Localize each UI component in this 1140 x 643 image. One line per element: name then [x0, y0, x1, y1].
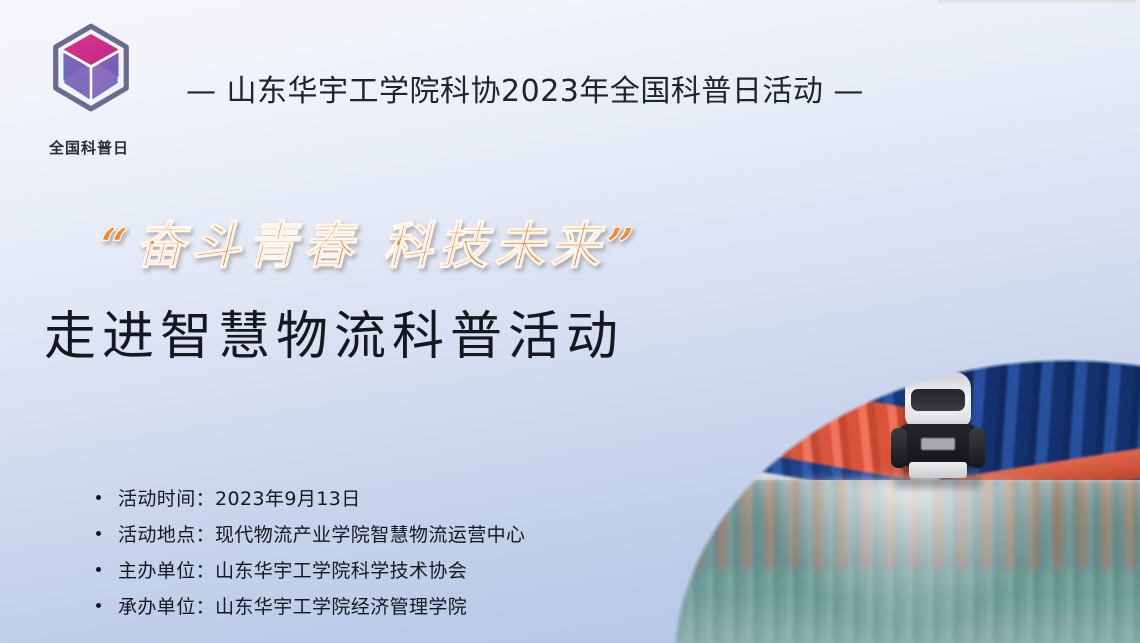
calligraphy-slogan: “奋斗青春 科技未来” [100, 206, 641, 278]
logo-caption: 全国科普日 [34, 137, 144, 158]
poster-slide: 全国科普日 — 山东华宇工学院科协2023年全国科普日活动 — “奋斗青春 科技… [0, 0, 1140, 643]
photo-content [620, 150, 1140, 643]
top-edge-strip [938, 0, 1136, 7]
agv-robot [895, 364, 981, 490]
list-item: 承办单位：山东华宇工学院经济管理学院 [92, 592, 525, 619]
event-details-list: 活动时间：2023年9月13日 活动地点：现代物流产业学院智慧物流运营中心 主办… [92, 484, 525, 628]
robot-body [899, 424, 977, 466]
page-title: 走进智慧物流科普活动 [44, 294, 624, 369]
robot-logo-icon [921, 438, 955, 450]
cube-hexagon-icon [48, 22, 134, 120]
robot-head [905, 372, 971, 428]
robot-wheel-left [891, 428, 907, 468]
robot-base-platform [909, 462, 967, 478]
national-science-day-logo: 全国科普日 [30, 22, 148, 158]
page-header-title: — 山东华宇工学院科协2023年全国科普日活动 — [186, 66, 986, 110]
list-item: 活动时间：2023年9月13日 [92, 484, 525, 511]
robot-face-screen [911, 389, 965, 411]
list-item: 活动地点：现代物流产业学院智慧物流运营中心 [92, 520, 525, 547]
list-item: 主办单位：山东华宇工学院科学技术协会 [92, 556, 525, 583]
robot-wheel-right [969, 428, 985, 468]
smart-logistics-warehouse-photo [620, 150, 1140, 643]
floor-glow [760, 480, 1060, 630]
